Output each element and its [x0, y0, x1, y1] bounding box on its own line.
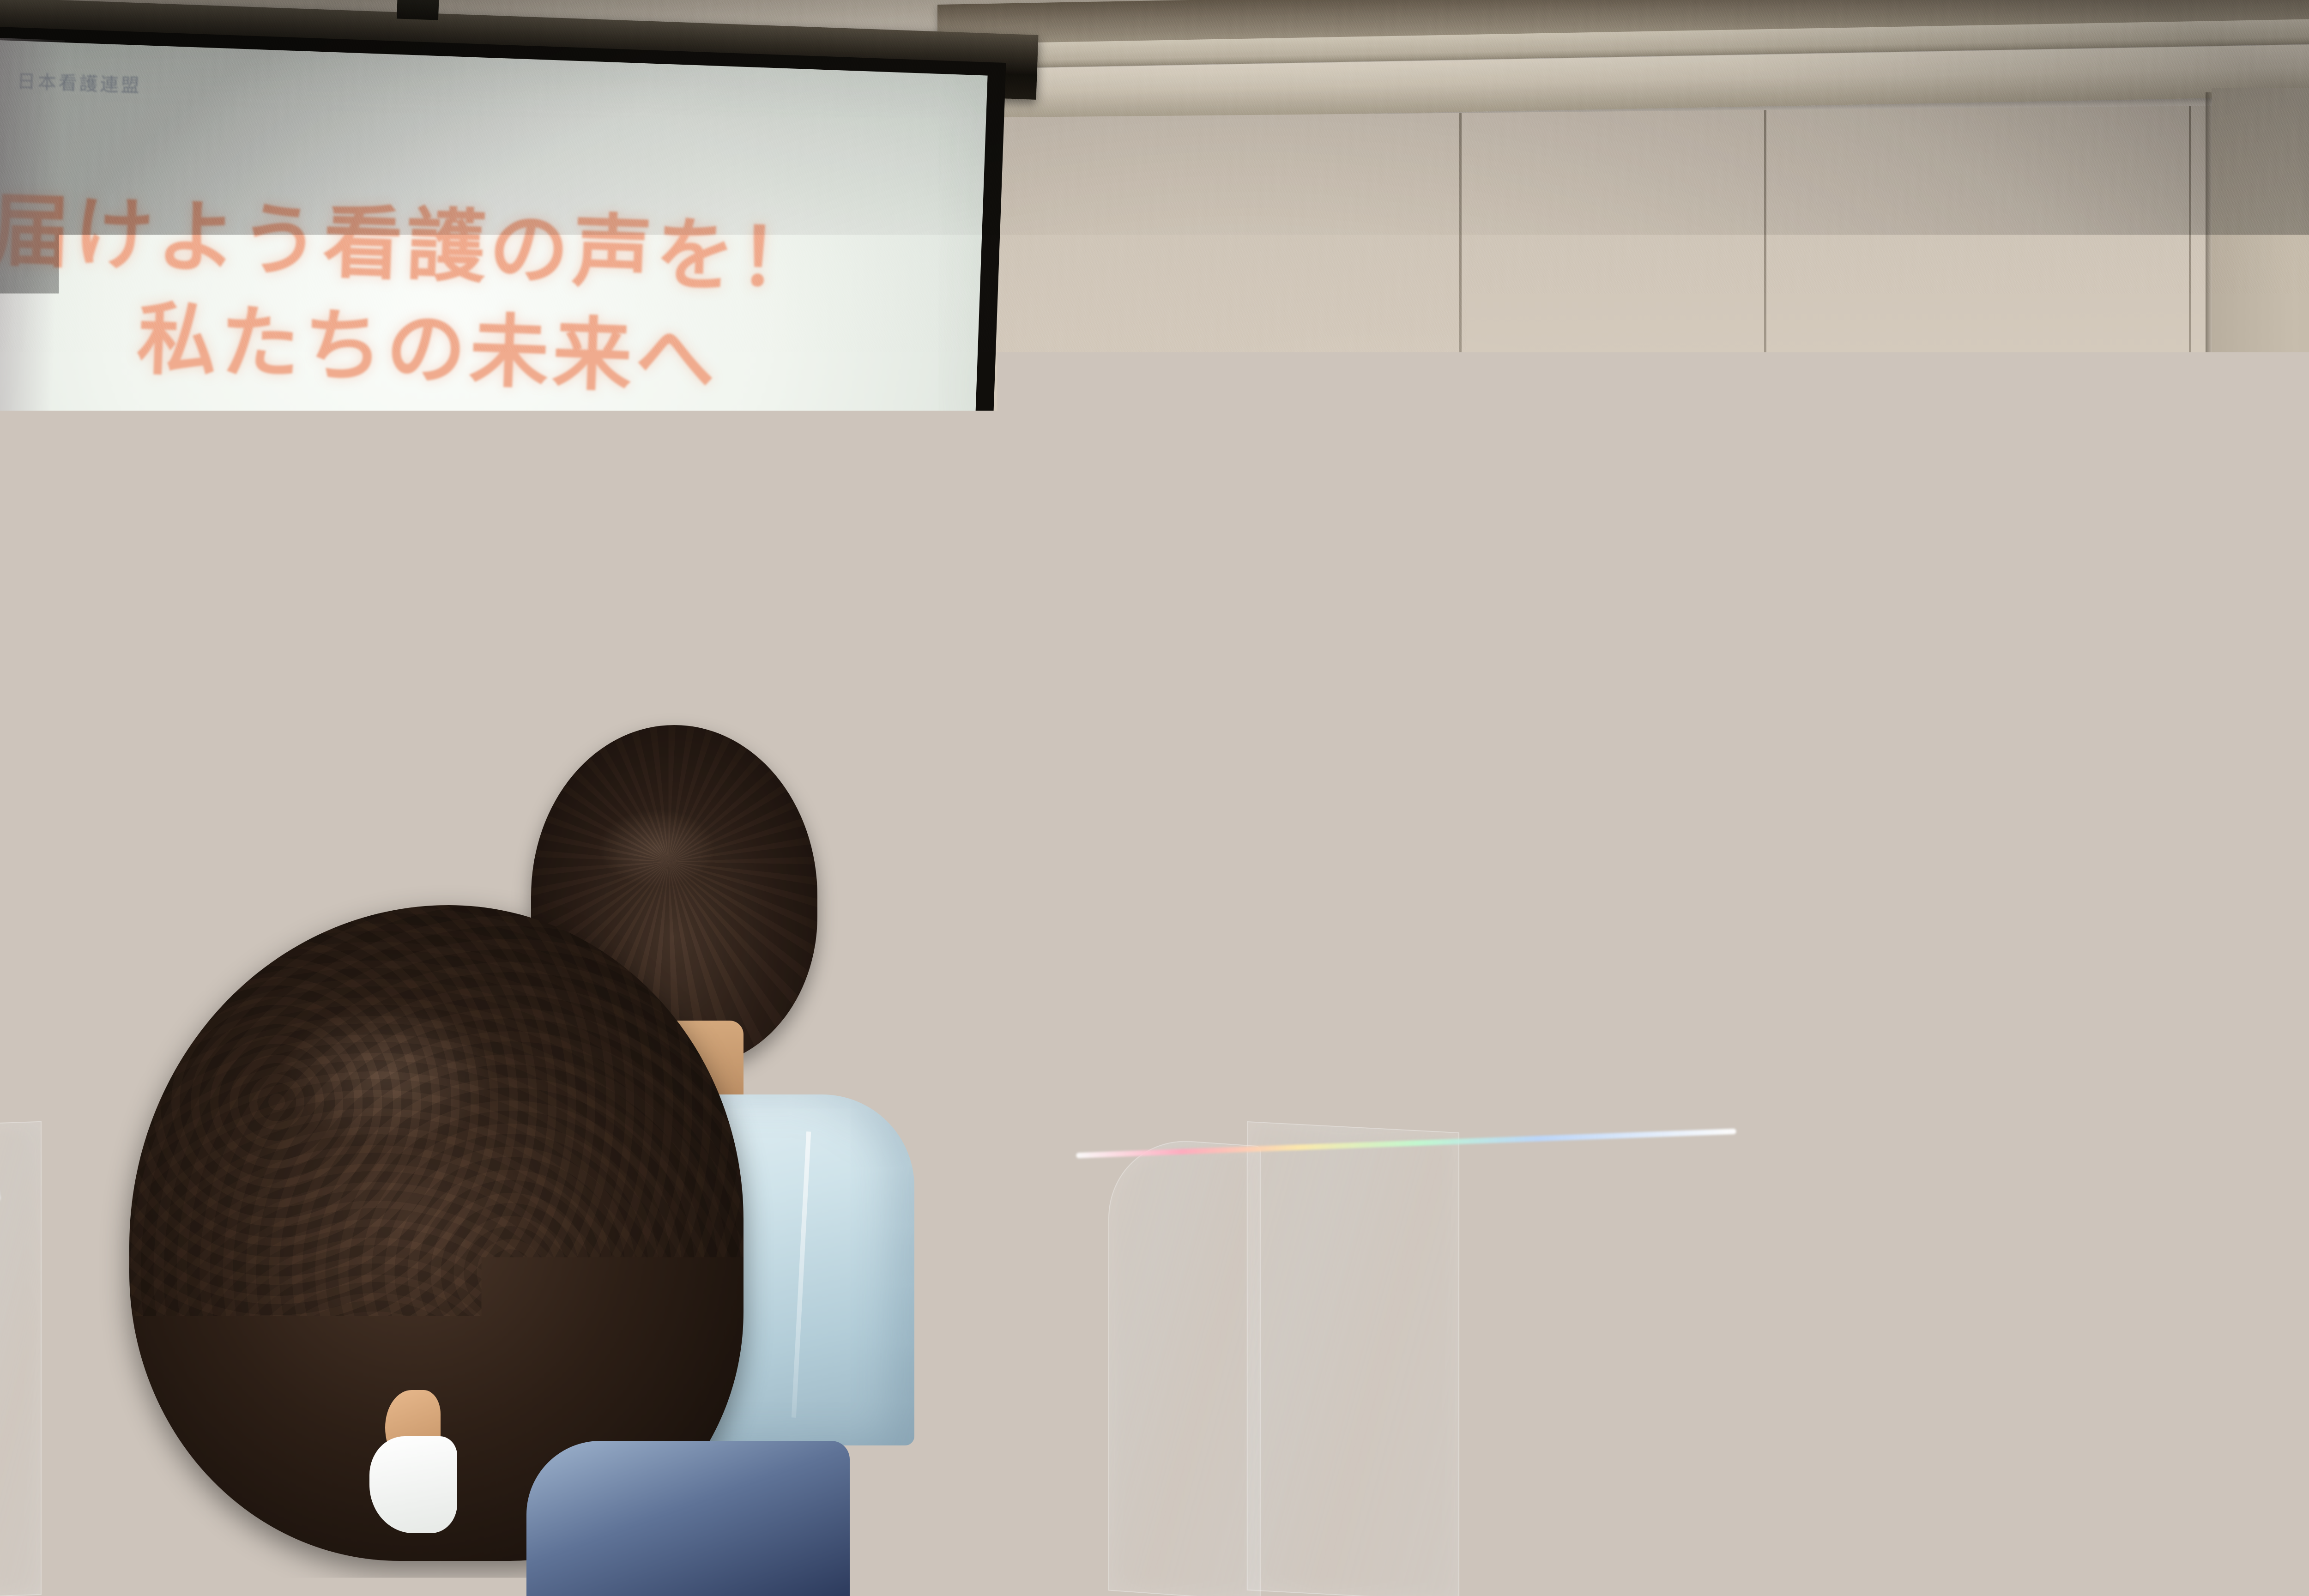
port-lan[interactable]: [2047, 1117, 2059, 1130]
screen-mount-bracket: [397, 0, 439, 20]
slide-title: 届けよう看護の声を！ 私たちの未来へ: [0, 178, 835, 415]
chair-presenter[interactable]: [1491, 1005, 1572, 1230]
audience-member-foreground: [129, 905, 850, 1596]
projector-foot: [1949, 1189, 1975, 1204]
laptop[interactable]: ∞: [1792, 843, 2009, 995]
projector-foot: [1819, 1185, 1844, 1201]
stand-caster: [1816, 1411, 1840, 1436]
heart-icon: [158, 776, 193, 809]
wet-wipes-lid[interactable]: [2128, 930, 2174, 953]
audience-member-right: [2212, 1058, 2309, 1596]
right-return-wall: [2212, 88, 2309, 1187]
chair-caster: [1533, 1445, 1557, 1470]
port-dsub[interactable]: [1950, 1158, 1977, 1170]
port-rca-red[interactable]: [1977, 1120, 1992, 1132]
projector[interactable]: A: [1750, 1076, 2166, 1228]
audience-face-mask: [369, 1436, 457, 1533]
port-audio[interactable]: [1982, 1140, 1992, 1151]
laptop-brand-logo: ∞: [1860, 911, 1883, 928]
partition-seam: [1459, 113, 1462, 1221]
laptop-lid: [1794, 833, 1969, 976]
projector-vent-grille: [1782, 1117, 1879, 1172]
stand-caster: [1678, 1440, 1702, 1465]
audience-torso: [2254, 1487, 2309, 1596]
port-usb[interactable]: [2032, 1117, 2043, 1130]
nurse-female-illustration: [38, 604, 187, 913]
port-vga-1[interactable]: [1999, 1118, 2027, 1131]
partition-seam: [2189, 106, 2191, 1214]
table-glint: [2194, 966, 2230, 973]
projector-label: A: [2110, 1118, 2129, 1145]
table-glint: [2069, 960, 2120, 966]
photograph-scene: 日本看護連盟 届けよう看護の声を！ 私たちの未来へ ずっと安心して働けるように: [0, 0, 2309, 1596]
port-vga-2[interactable]: [1950, 1140, 1977, 1153]
presenter-hand-left: [1656, 1053, 1725, 1107]
acrylic-divider-left: [0, 1121, 42, 1596]
nurse-male-illustration: [191, 606, 340, 907]
slide-subtitle: ずっと安心して働けるように: [348, 585, 811, 651]
presenter-face-mask: [1659, 737, 1773, 824]
port-hdmi[interactable]: [1949, 1121, 1973, 1132]
acrylic-divider-center: [1247, 1121, 1459, 1596]
